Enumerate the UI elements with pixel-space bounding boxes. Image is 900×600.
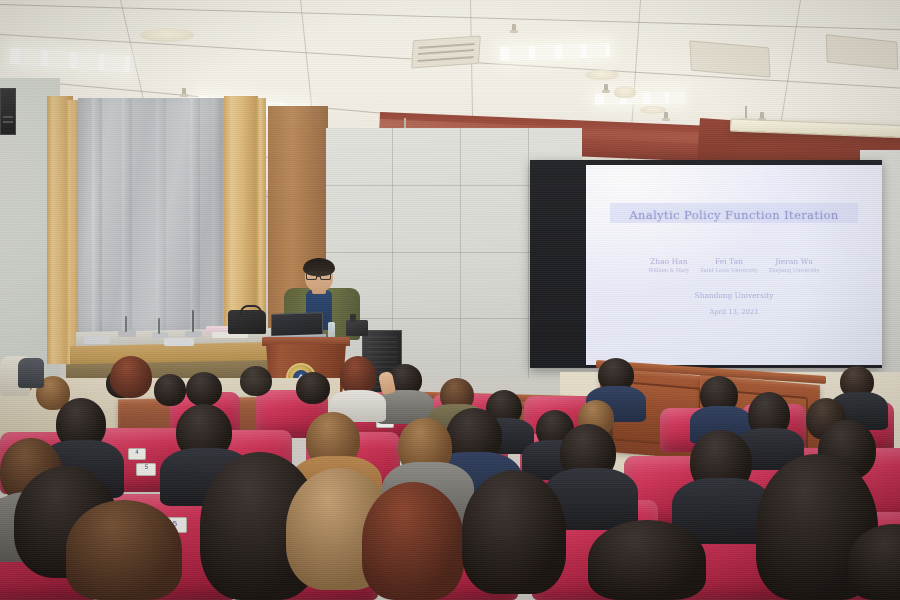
presenter-glasses [306,272,317,280]
projection-screen: Analytic Policy Function Iteration Zhao … [586,165,882,365]
ceiling-dome-light [640,106,666,114]
bag-handle [240,305,262,315]
author-entry: Jieran Wu Zhejiang University [769,257,820,274]
microphone-stem [125,316,127,332]
seat-number: 5 [136,463,156,476]
audience-head [296,372,330,404]
lecture-hall-photo: Analytic Policy Function Iteration Zhao … [0,0,900,600]
audience-head [240,366,272,396]
author-entry: Fei Tan Saint Louis University [700,257,757,274]
wall-panel-seam [528,128,529,378]
ceiling-vent [411,36,481,69]
slide-venue: Shandong University [586,291,882,300]
ceiling-dome-light [614,86,636,98]
presenter-glasses [320,272,331,280]
audience-head-foreground [588,520,706,600]
slide-title: Analytic Policy Function Iteration [586,208,882,222]
sprinkler-head [664,112,668,120]
sprinkler-head [512,24,516,32]
author-name: Jieran Wu [769,257,820,266]
audience-head-foreground [66,500,182,600]
audience-head [154,374,186,406]
person-left-edge-dark [18,358,44,388]
author-name: Fei Tan [700,257,757,266]
equipment-box [84,336,110,344]
audience-head-foreground [462,470,566,594]
sprinkler-head [604,84,608,92]
control-equipment [346,320,368,336]
ceiling-dome-light [585,70,619,80]
microphone-base [118,330,136,337]
audience-head-foreground [362,482,464,600]
microphone-stem [158,318,160,334]
ceiling-light-fixture [500,43,610,61]
wall-panel-seam [460,128,461,378]
ceiling-vent [826,34,899,70]
ceiling-light-fixture [595,92,683,105]
author-affiliation: William & Mary [648,268,689,274]
wall-curtain [78,98,226,350]
ceiling-vent [689,40,770,77]
ceiling-light-fixture [10,48,131,72]
control-equipment [350,314,356,322]
author-affiliation: Saint Louis University [700,268,757,274]
author-affiliation: Zhejiang University [769,268,820,274]
sprinkler-head [182,88,186,96]
author-entry: Zhao Han William & Mary [648,257,689,274]
slide-date: April 13, 2021 [586,308,882,316]
slide-authors: Zhao Han William & Mary Fei Tan Saint Lo… [586,257,882,274]
microphone-stem [192,310,194,332]
ceiling-dome-light [140,28,194,42]
wall-speaker [0,88,16,135]
equipment-box [164,338,194,346]
audience-head [186,372,222,406]
author-name: Zhao Han [648,257,689,266]
audience-head [110,356,152,398]
seat-number: 4 [128,448,146,460]
microphone-base [185,331,202,337]
